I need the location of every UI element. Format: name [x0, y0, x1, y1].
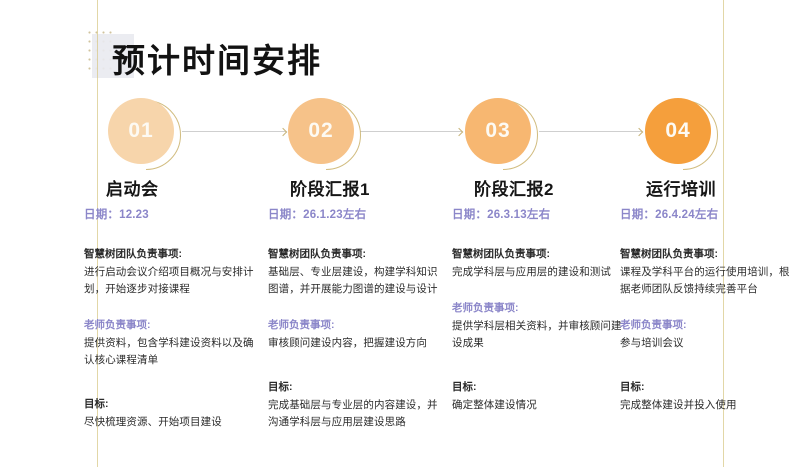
- step-number: 02: [288, 98, 354, 164]
- detail-block-goal: 目标: 尽快梳理资源、开始项目建设: [84, 396, 256, 431]
- detail-block-team: 智慧树团队负责事项: 完成学科层与应用层的建设和测试: [452, 246, 624, 281]
- timeline-node-2[interactable]: 02: [288, 98, 358, 168]
- timeline: 01 02 03 04: [0, 98, 798, 168]
- detail-label: 老师负责事项:: [452, 300, 624, 317]
- detail-label: 老师负责事项:: [620, 317, 792, 334]
- detail-text: 参与培训会议: [620, 335, 792, 352]
- step-heading-4: 运行培训 日期：26.4.24左右: [620, 180, 795, 222]
- detail-text: 完成学科层与应用层的建设和测试: [452, 264, 624, 281]
- step-date: 日期：26.3.13左右: [452, 206, 627, 222]
- detail-label: 目标:: [268, 379, 440, 396]
- detail-text: 审核顾问建设内容，把握建设方向: [268, 335, 440, 352]
- timeline-connector-1: [182, 131, 286, 132]
- step-date: 日期：26.4.24左右: [620, 206, 795, 222]
- detail-block-goal: 目标: 完成整体建设并投入使用: [620, 379, 792, 414]
- detail-label: 智慧树团队负责事项:: [452, 246, 624, 263]
- detail-block-teacher: 老师负责事项: 提供资料，包含学科建设资料以及确认核心课程清单: [84, 317, 256, 369]
- detail-text: 基础层、专业层建设，构建学科知识图谱，并开展能力图谱的建设与设计: [268, 264, 440, 298]
- timeline-node-4[interactable]: 04: [645, 98, 715, 168]
- step-date: 日期：12.23: [84, 206, 259, 222]
- detail-label: 智慧树团队负责事项:: [620, 246, 792, 263]
- detail-text: 完成整体建设并投入使用: [620, 397, 792, 414]
- step-heading-2: 阶段汇报1 日期：26.1.23左右: [268, 180, 443, 222]
- step-title: 运行培训: [646, 180, 795, 200]
- detail-label: 目标:: [452, 379, 624, 396]
- timeline-node-3[interactable]: 03: [465, 98, 535, 168]
- detail-label: 智慧树团队负责事项:: [84, 246, 256, 263]
- detail-label: 智慧树团队负责事项:: [268, 246, 440, 263]
- detail-block-goal: 目标: 完成基础层与专业层的内容建设，并沟通学科层与应用层建设思路: [268, 379, 440, 431]
- detail-block-teacher: 老师负责事项: 提供学科层相关资料，并审核顾问建设成果: [452, 300, 624, 352]
- step-title: 启动会: [106, 180, 259, 200]
- detail-label: 老师负责事项:: [268, 317, 440, 334]
- timeline-connector-3: [539, 131, 642, 132]
- step-details-2: 智慧树团队负责事项: 基础层、专业层建设，构建学科知识图谱，并开展能力图谱的建设…: [268, 246, 440, 431]
- detail-text: 提供学科层相关资料，并审核顾问建设成果: [452, 318, 624, 352]
- step-number: 04: [645, 98, 711, 164]
- detail-text: 确定整体建设情况: [452, 397, 624, 414]
- step-heading-1: 启动会 日期：12.23: [84, 180, 259, 222]
- detail-block-teacher: 老师负责事项: 参与培训会议: [620, 317, 792, 352]
- detail-text: 进行启动会议介绍项目概况与安排计划，开始逐步对接课程: [84, 264, 256, 298]
- step-title: 阶段汇报2: [474, 180, 627, 200]
- step-title: 阶段汇报1: [290, 180, 443, 200]
- detail-block-goal: 目标: 确定整体建设情况: [452, 379, 624, 414]
- detail-label: 目标:: [620, 379, 792, 396]
- detail-block-team: 智慧树团队负责事项: 课程及学科平台的运行使用培训，根据老师团队反馈持续完善平台: [620, 246, 792, 298]
- detail-text: 提供资料，包含学科建设资料以及确认核心课程清单: [84, 335, 256, 369]
- timeline-connector-2: [360, 131, 462, 132]
- detail-block-team: 智慧树团队负责事项: 基础层、专业层建设，构建学科知识图谱，并开展能力图谱的建设…: [268, 246, 440, 298]
- page-title: 预计时间安排: [112, 44, 322, 77]
- step-details-3: 智慧树团队负责事项: 完成学科层与应用层的建设和测试 老师负责事项: 提供学科层…: [452, 246, 624, 414]
- step-heading-3: 阶段汇报2 日期：26.3.13左右: [452, 180, 627, 222]
- step-number: 01: [108, 98, 174, 164]
- detail-text: 完成基础层与专业层的内容建设，并沟通学科层与应用层建设思路: [268, 397, 440, 431]
- step-number: 03: [465, 98, 531, 164]
- step-date: 日期：26.1.23左右: [268, 206, 443, 222]
- detail-block-teacher: 老师负责事项: 审核顾问建设内容，把握建设方向: [268, 317, 440, 352]
- detail-label: 老师负责事项:: [84, 317, 256, 334]
- step-details-1: 智慧树团队负责事项: 进行启动会议介绍项目概况与安排计划，开始逐步对接课程 老师…: [84, 246, 256, 431]
- timeline-node-1[interactable]: 01: [108, 98, 178, 168]
- detail-block-team: 智慧树团队负责事项: 进行启动会议介绍项目概况与安排计划，开始逐步对接课程: [84, 246, 256, 298]
- detail-text: 尽快梳理资源、开始项目建设: [84, 414, 256, 431]
- detail-text: 课程及学科平台的运行使用培训，根据老师团队反馈持续完善平台: [620, 264, 792, 298]
- detail-label: 目标:: [84, 396, 256, 413]
- step-details-4: 智慧树团队负责事项: 课程及学科平台的运行使用培训，根据老师团队反馈持续完善平台…: [620, 246, 792, 414]
